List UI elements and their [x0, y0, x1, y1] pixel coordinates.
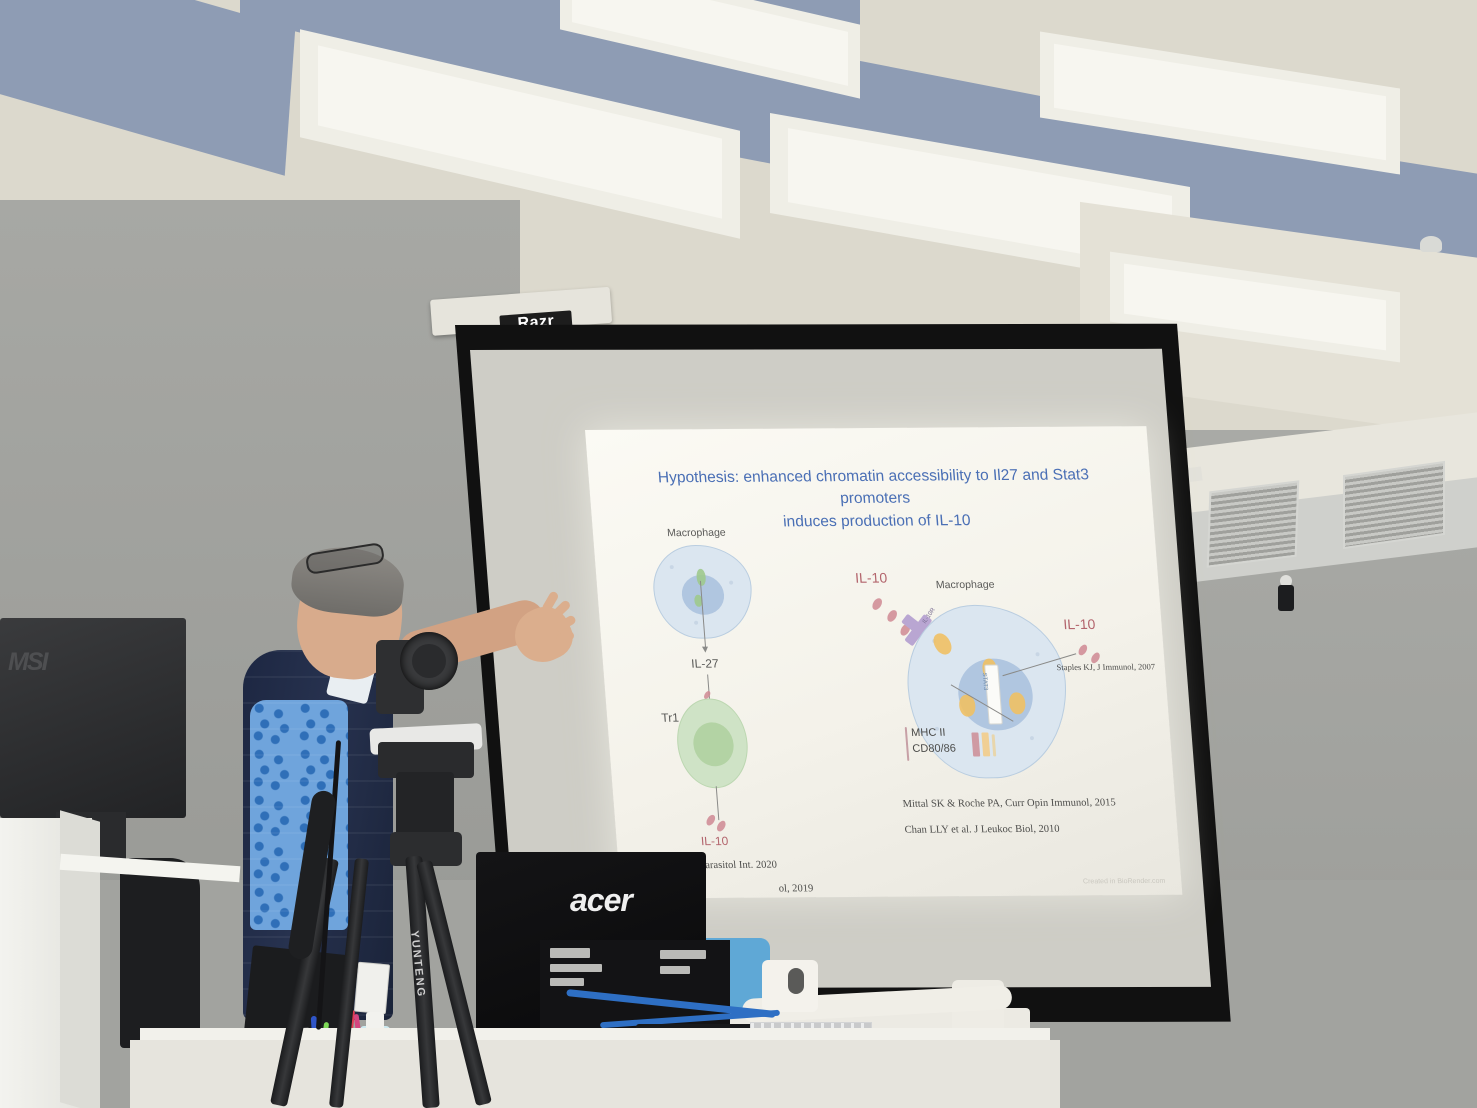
left-macrophage-label: Macrophage [667, 527, 726, 539]
name-badge [354, 962, 390, 1015]
lecture-hall-photo: Keep in Place Razr Hypothesis: enhanced … [0, 0, 1477, 1108]
right-il10-input-label: IL-10 [855, 570, 888, 586]
acer-logo: acer [570, 882, 632, 919]
equipment-sticker [660, 966, 690, 974]
equipment-sticker [660, 950, 706, 959]
citation-right-2: Chan LLY et al. J Leukoc Biol, 2010 [904, 824, 1060, 836]
desk-front-panel [130, 1040, 1060, 1108]
cell-granule-dot [729, 581, 733, 585]
biorender-watermark: Created in BioRender.com [1083, 878, 1166, 886]
inline-citation-staples: Staples KJ, J Immunol, 2007 [1056, 661, 1155, 672]
equipment-sticker [550, 964, 602, 972]
msi-logo: MSI [8, 648, 46, 677]
slide-title: Hypothesis: enhanced chromatin accessibi… [632, 464, 1118, 535]
camera-lens-inner [412, 644, 446, 678]
equipment-sticker [550, 948, 590, 958]
cd8086-label: CD80/86 [912, 743, 956, 755]
projected-slide: Hypothesis: enhanced chromatin accessibi… [585, 426, 1182, 899]
left-il27-label: IL-27 [691, 657, 719, 671]
left-il10-label: IL-10 [700, 834, 728, 848]
citation-right-1: Mittal SK & Roche PA, Curr Opin Immunol,… [902, 797, 1116, 809]
stat3-label: STAT3 [981, 673, 988, 691]
citation-left-2: ol, 2019 [778, 883, 813, 894]
right-il10-output-label: IL-10 [1063, 616, 1096, 632]
cell-granule-dot [694, 621, 698, 625]
hvac-vent-icon [1343, 461, 1445, 549]
cytokine-particle [885, 608, 899, 623]
equipment-sticker [550, 978, 584, 986]
security-camera-icon [1278, 585, 1294, 611]
cytokine-particle [715, 819, 727, 833]
cytokine-particle [870, 596, 884, 611]
document-camera-lens-icon [788, 968, 804, 994]
office-chair [120, 858, 200, 1048]
finger [555, 630, 575, 644]
downregulation-arrow-icon [906, 743, 909, 761]
cytokine-particle [1077, 643, 1089, 657]
mhc2-label: MHC II [911, 727, 946, 739]
cell-granule-dot [670, 565, 674, 569]
cytokine-particle [705, 813, 717, 827]
slide-title-line-1: Hypothesis: enhanced chromatin accessibi… [632, 464, 1117, 512]
right-macrophage-label: Macrophage [935, 579, 994, 591]
arrow-tr1-to-il10 [716, 786, 720, 820]
hvac-vent-icon [1207, 480, 1300, 567]
smoke-detector-icon [1420, 236, 1442, 252]
arrowhead-icon [702, 647, 708, 653]
cell-granule-dot [1035, 652, 1039, 656]
ceiling-acoustic-panel [0, 0, 295, 176]
cell-granule-dot [1030, 736, 1034, 740]
left-tr1-label: Tr1 [661, 711, 680, 725]
